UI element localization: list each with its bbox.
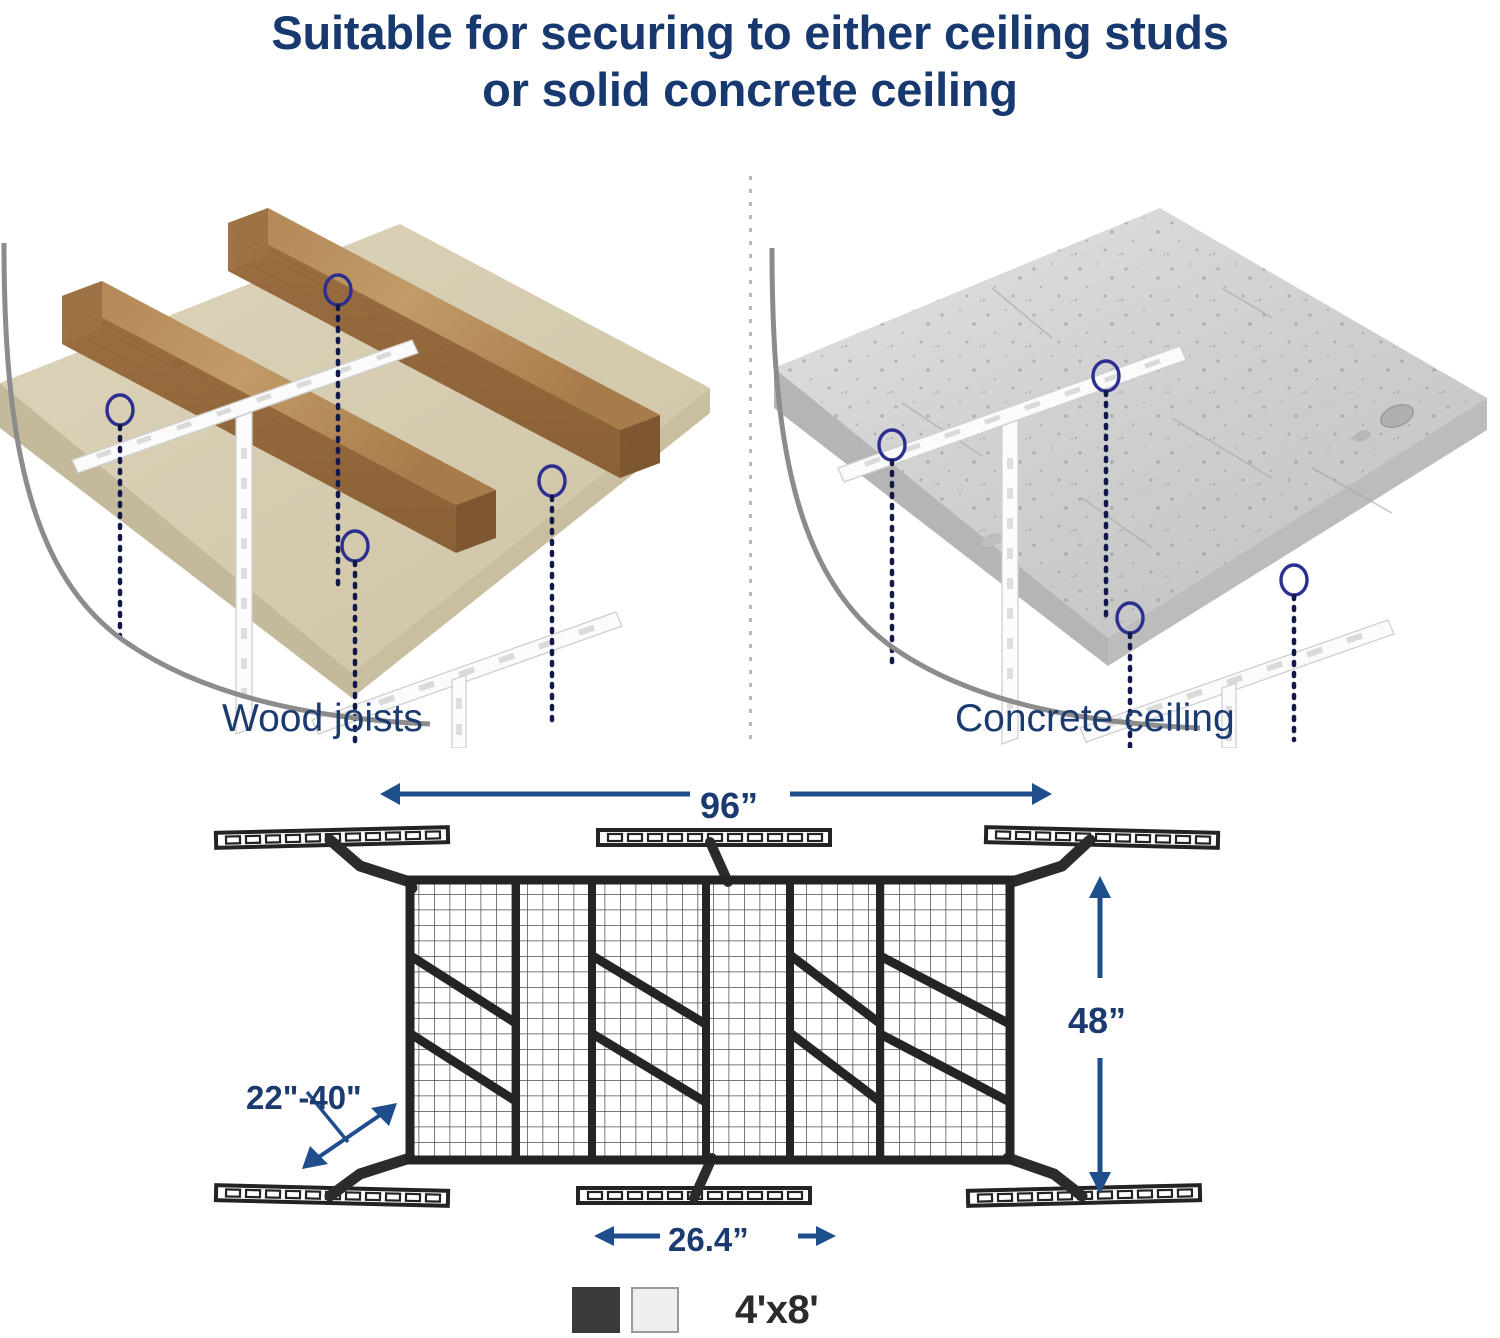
rack-deck <box>410 880 1010 1160</box>
legend-swatch-light <box>631 1287 679 1333</box>
title-line-1: Suitable for securing to either ceiling … <box>0 4 1500 61</box>
dimension-label-depth: 48” <box>1068 1000 1126 1042</box>
concrete-ceiling-svg <box>752 168 1500 748</box>
title-line-2: or solid concrete ceiling <box>0 61 1500 118</box>
ceiling-rail-top-right <box>986 827 1218 848</box>
dimension-label-drop-height: 22"-40" <box>246 1079 362 1117</box>
legend-label-size: 4'x8' <box>735 1288 818 1333</box>
product-spec-illustration: Suitable for securing to either ceiling … <box>0 0 1500 1338</box>
wood-joists-svg <box>0 168 748 748</box>
rack-dimension-diagram <box>0 770 1500 1280</box>
ceiling-rails-top <box>216 827 1218 848</box>
illustration-wood-joists <box>0 168 748 748</box>
rack-plan-svg <box>0 770 1500 1280</box>
illustration-concrete-ceiling <box>752 168 1500 748</box>
size-legend: 4'x8' <box>572 1285 818 1335</box>
legend-swatch-dark <box>572 1287 620 1333</box>
page-title: Suitable for securing to either ceiling … <box>0 4 1500 119</box>
caption-wood-joists: Wood joists <box>222 697 423 741</box>
dimension-label-width: 96” <box>700 785 758 827</box>
dimension-label-bracket-spacing: 26.4” <box>668 1221 749 1259</box>
caption-concrete-ceiling: Concrete ceiling <box>955 697 1235 741</box>
ceiling-rails-bottom <box>216 1185 1200 1206</box>
